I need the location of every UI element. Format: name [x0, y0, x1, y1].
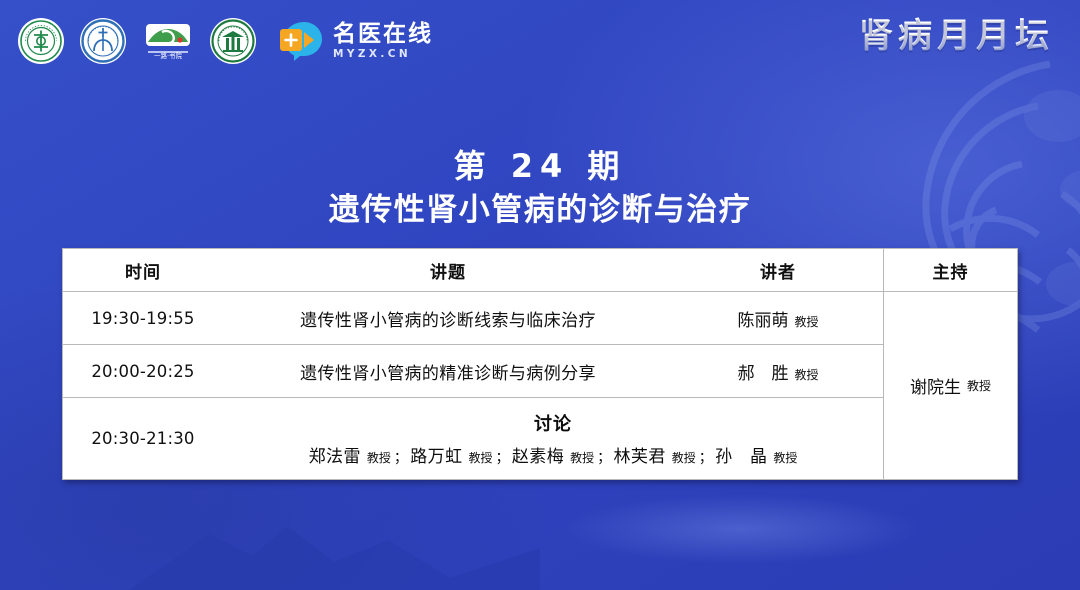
play-plus-icon: [280, 20, 324, 62]
discussion-panelists: 郑法雷教授；路万虹教授；赵素梅教授；林芙君教授；孙 晶教授: [231, 442, 875, 467]
panelist-name: 郑法雷: [309, 447, 361, 467]
column-header-time: 时间: [63, 258, 223, 283]
yilu-academy-logo-icon: 一路·书院: [142, 18, 194, 64]
moderator-title: 教授: [967, 377, 991, 394]
svg-text:一路·书院: 一路·书院: [154, 51, 183, 60]
presentation-slide: 一路·书院 名医在线 MYZX.CN: [0, 0, 1080, 590]
session-speaker: 郝 胜教授: [673, 359, 883, 384]
session-topic: 遗传性肾小管病的精准诊断与病例分享: [223, 359, 673, 384]
session-topic: 遗传性肾小管病的诊断线索与临床治疗: [223, 306, 673, 331]
moderator-cell: 谢院生教授: [884, 292, 1017, 479]
brand-name-en: MYZX.CN: [333, 48, 433, 60]
page-title: 遗传性肾小管病的诊断与治疗: [0, 192, 1080, 229]
speaker-title: 教授: [794, 315, 818, 329]
panelist-separator: ；: [597, 450, 611, 466]
panelist-title: 教授: [672, 451, 696, 465]
panelist-title: 教授: [570, 451, 594, 465]
schedule-table: 时间 讲题 讲者 19:30-19:55 遗传性肾小管病的诊断线索与临床治疗 陈…: [62, 248, 1018, 480]
column-header-speaker: 讲者: [673, 258, 883, 283]
issue-number: 第 24 期: [0, 149, 1080, 184]
session-speaker: 陈丽萌教授: [673, 306, 883, 331]
hospital-seal-icon: [80, 18, 126, 64]
session-time: 19:30-19:55: [63, 309, 223, 328]
moderator-column: 主持 谢院生教授: [884, 248, 1018, 480]
schedule-main-columns: 时间 讲题 讲者 19:30-19:55 遗传性肾小管病的诊断线索与临床治疗 陈…: [62, 248, 884, 480]
speaker-title: 教授: [794, 368, 818, 382]
panelist-separator: ；: [495, 450, 509, 466]
moderator-name: 谢院生: [910, 373, 961, 398]
chinese-medical-association-seal-icon: [18, 18, 64, 64]
university-seal-icon: [210, 18, 256, 64]
panelist-name: 孙 晶: [715, 447, 767, 467]
brand-name-cn: 名医在线: [333, 22, 433, 46]
discussion-cell: 讨论 郑法雷教授；路万虹教授；赵素梅教授；林芙君教授；孙 晶教授: [223, 410, 883, 467]
myzx-brand-logo: 名医在线 MYZX.CN: [280, 20, 433, 62]
table-row: 19:30-19:55 遗传性肾小管病的诊断线索与临床治疗 陈丽萌教授: [63, 292, 883, 345]
table-header-row: 时间 讲题 讲者: [63, 249, 883, 292]
panelist-title: 教授: [773, 451, 797, 465]
panelist-name: 林芙君: [614, 447, 666, 467]
table-row-discussion: 20:30-21:30 讨论 郑法雷教授；路万虹教授；赵素梅教授；林芙君教授；孙…: [63, 398, 883, 479]
session-time: 20:00-20:25: [63, 362, 223, 381]
column-header-moderator: 主持: [884, 249, 1017, 292]
series-title: 肾病月月坛: [859, 14, 1054, 58]
speaker-name: 陈丽萌: [737, 311, 788, 331]
session-time: 20:30-21:30: [63, 429, 223, 448]
panelist-separator: ；: [394, 450, 408, 466]
panelist-name: 赵素梅: [512, 447, 564, 467]
column-header-topic: 讲题: [223, 258, 673, 283]
table-row: 20:00-20:25 遗传性肾小管病的精准诊断与病例分享 郝 胜教授: [63, 345, 883, 398]
discussion-label: 讨论: [231, 410, 875, 436]
panelist-separator: ；: [699, 450, 713, 466]
speaker-name: 郝 胜: [737, 364, 788, 384]
logo-strip: 一路·书院 名医在线 MYZX.CN: [18, 14, 433, 68]
panelist-title: 教授: [468, 451, 492, 465]
panelist-name: 路万虹: [410, 447, 462, 467]
panelist-title: 教授: [367, 451, 391, 465]
